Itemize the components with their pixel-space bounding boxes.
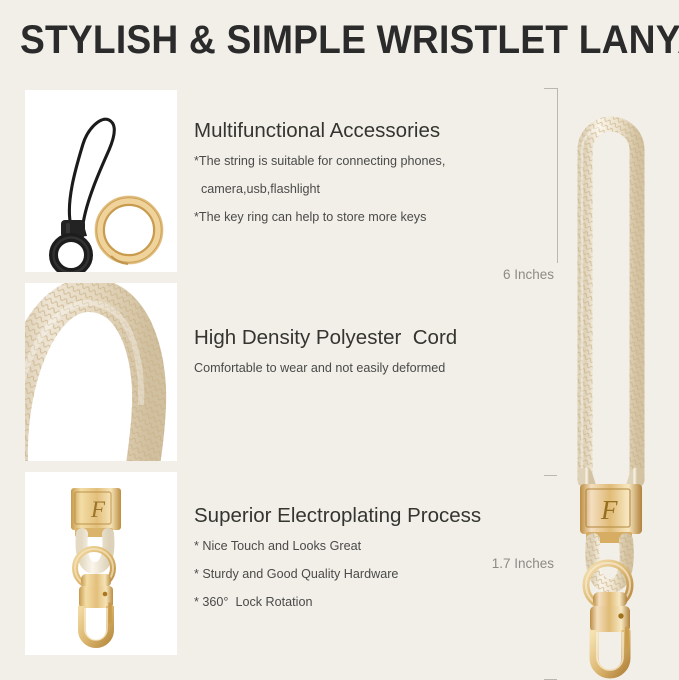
ruler-tick-top <box>544 88 557 89</box>
feature-heading-electroplating: Superior Electroplating Process <box>194 503 524 529</box>
feature-line: Comfortable to wear and not easily defor… <box>194 361 524 376</box>
feature-line: * Sturdy and Good Quality Hardware <box>194 567 524 582</box>
feature-line: * 360° Lock Rotation <box>194 595 524 610</box>
feature-text-multifunctional: Multifunctional Accessories *The string … <box>194 118 524 238</box>
feature-heading-cord: High Density Polyester Cord <box>194 325 524 351</box>
dimension-label-length: 6 Inches <box>496 267 554 282</box>
feature-line: *The key ring can help to store more key… <box>194 210 524 225</box>
page-title: STYLISH & SIMPLE WRISTLET LANYARD <box>20 18 620 62</box>
feature-text-cord: High Density Polyester Cord Comfortable … <box>194 325 524 389</box>
photo-gold-hardware: F <box>25 472 177 655</box>
hero-product-image: F <box>555 80 679 679</box>
hero-logo-letter: F <box>600 495 618 525</box>
photo-braided-cord <box>25 283 177 461</box>
ruler-tick-middle <box>544 475 557 476</box>
dimension-ruler: 6 Inches 1.7 Inches <box>557 88 558 680</box>
feature-photo-cord <box>25 283 177 461</box>
infographic-canvas: STYLISH & SIMPLE WRISTLET LANYARD <box>0 0 679 679</box>
dimension-label-hardware: 1.7 Inches <box>483 556 554 571</box>
feature-line: *The string is suitable for connecting p… <box>194 154 524 169</box>
feature-line: * Nice Touch and Looks Great <box>194 539 524 554</box>
svg-text:F: F <box>90 497 106 522</box>
ruler-line-segment <box>557 88 558 160</box>
hero-lanyard-graphic: F <box>555 80 679 679</box>
feature-photo-hardware: F <box>25 472 177 655</box>
photo-string-keyring <box>25 90 177 272</box>
feature-heading-multifunctional: Multifunctional Accessories <box>194 118 524 144</box>
feature-text-electroplating: Superior Electroplating Process * Nice T… <box>194 503 524 623</box>
feature-line: camera,usb,flashlight <box>194 182 524 197</box>
feature-photo-multifunctional <box>25 90 177 272</box>
